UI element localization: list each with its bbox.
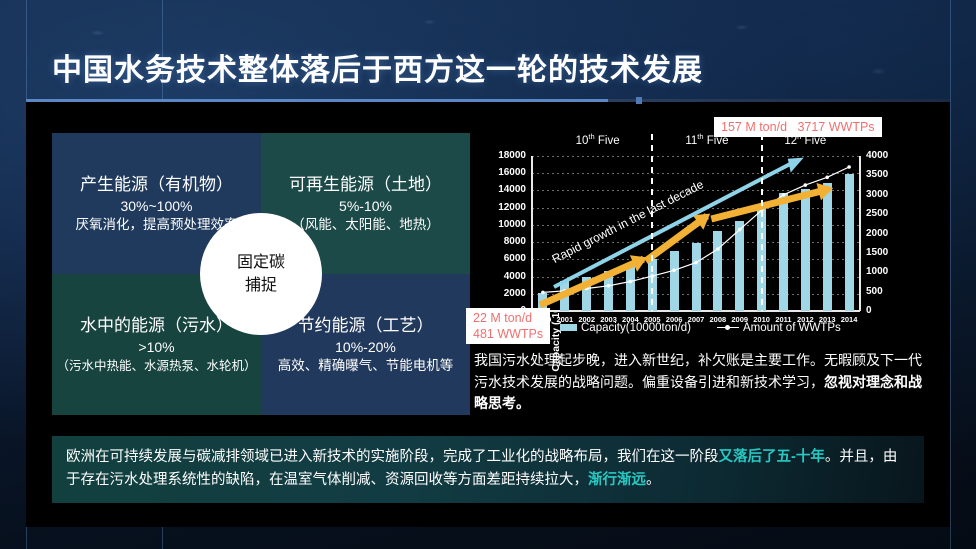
chart-plot-area: 1800016000140001200010000800060004000200… <box>532 156 860 311</box>
quadrant-heading: 节约能源（工艺） <box>298 315 434 336</box>
period-number: 10 <box>576 135 589 147</box>
chart-period-divider <box>651 134 653 311</box>
legend-entry-capacity: Capacity(10000ton/d) <box>560 322 691 334</box>
chart-y2-tick-label: 1500 <box>866 247 906 258</box>
chart-y-tick-label: 16000 <box>486 167 526 178</box>
chart-y-tick-label: 2000 <box>486 288 526 299</box>
center-circle-carbon-capture[interactable]: 固定碳 捕捉 <box>200 213 322 335</box>
banner-text-3: 。 <box>646 472 661 488</box>
quadrant-heading: 可再生能源（土地） <box>289 174 442 195</box>
page-title-text: 中国水务技术整体落后于西方这一轮的技术发展 <box>52 45 703 89</box>
chart-y-tick-label: 14000 <box>486 184 526 195</box>
chart-y2-tick-label: 1000 <box>866 266 906 277</box>
slide-canvas: 中国水务技术整体落后于西方这一轮的技术发展 产生能源（有机物） 30%~100%… <box>0 0 976 549</box>
chart-y2-tick-label: 3000 <box>866 189 906 200</box>
chart-y-tick-label: 18000 <box>486 150 526 161</box>
quadrant-percent: 5%-10% <box>339 197 392 215</box>
callout-bottom-line2: 481 WWTPs <box>473 326 543 342</box>
chart-commentary-paragraph: 我国污水处理起步晚，进入新世纪，补欠账是主要工作。无暇顾及下一代污水技术发展的战… <box>474 350 926 415</box>
circle-line-2: 捕捉 <box>245 274 277 297</box>
banner-highlight-1: 又落后了五-十年 <box>719 449 825 465</box>
wwtp-capacity-chart: Capacity ( 10000 ton/d ) Amount of WWTPs… <box>474 120 926 345</box>
quadrant-heading: 产生能源（有机物） <box>80 174 233 195</box>
chart-y-tick-label: 6000 <box>486 253 526 264</box>
quadrant-sub: 高效、精确曝气、节能电机等 <box>278 357 454 375</box>
chart-x-tick-label: 2014 <box>841 315 858 324</box>
quadrant-percent: >10% <box>138 338 174 356</box>
chart-y-axis-label-right: Amount of WWTPs <box>928 150 976 164</box>
legend-entry-wwtps: Amount of WWTPs <box>717 322 841 334</box>
chart-y-tick-label: 10000 <box>486 219 526 230</box>
quadrant-heading: 水中的能源（污水） <box>80 315 233 336</box>
conclusion-banner: 欧洲在可持续发展与碳减排领域已进入新技术的实施阶段，完成了工业化的战略布局，我们… <box>52 436 924 503</box>
legend-line-swatch-icon <box>717 324 739 332</box>
callout-2000-values: 22 M ton/d 481 WWTPs <box>466 308 550 344</box>
chart-y2-tick-label: 0 <box>866 305 906 316</box>
chart-y-tick-label: 8000 <box>486 236 526 247</box>
callout-top-line2: 3717 WWTPs <box>797 120 874 134</box>
callout-2014-values: 157 M ton/d 3717 WWTPs <box>714 117 882 137</box>
circle-line-1: 固定碳 <box>237 251 285 274</box>
callout-bottom-line1: 22 M ton/d <box>473 310 543 326</box>
chart-y2-tick-label: 3500 <box>866 169 906 180</box>
period-number: 11 <box>685 135 697 147</box>
legend-label-capacity: Capacity(10000ton/d) <box>581 322 691 334</box>
banner-text-1: 欧洲在可持续发展与碳减排领域已进入新技术的实施阶段，完成了工业化的战略布局，我们… <box>66 449 719 465</box>
quadrant-sub: （污水中热能、水源热泵、水轮机） <box>56 358 256 374</box>
chart-y-tick-label: 12000 <box>486 202 526 213</box>
title-underline <box>26 99 950 102</box>
page-title: 中国水务技术整体落后于西方这一轮的技术发展 <box>52 45 703 89</box>
background-guide-line-right <box>950 0 951 549</box>
quadrant-sub: 厌氧消化，提高预处理效率 <box>76 216 238 234</box>
chart-y-tick-label: 4000 <box>486 271 526 282</box>
banner-highlight-2: 渐行渐远 <box>588 472 646 488</box>
chart-y2-tick-label: 500 <box>866 286 906 297</box>
title-underline-marker <box>636 97 642 104</box>
legend-label-wwtps: Amount of WWTPs <box>743 322 841 334</box>
quadrant-sub: （风能、太阳能、地热） <box>291 216 440 234</box>
chart-period-divider <box>761 134 763 311</box>
quadrant-percent: 30%~100% <box>120 197 192 215</box>
legend-bar-swatch-icon <box>560 324 577 331</box>
energy-quadrant-matrix: 产生能源（有机物） 30%~100% 厌氧消化，提高预处理效率 可再生能源（土地… <box>52 133 470 415</box>
callout-top-line1: 157 M ton/d <box>721 120 787 134</box>
chart-y2-tick-label: 2000 <box>866 228 906 239</box>
chart-y2-tick-label: 2500 <box>866 208 906 219</box>
chart-legend: Capacity(10000ton/d) Amount of WWTPs <box>560 322 841 334</box>
period-word: Five <box>595 135 620 147</box>
quadrant-percent: 10%-20% <box>335 338 396 356</box>
chart-y2-tick-label: 4000 <box>866 150 906 161</box>
chart-period-label: 10th Five <box>576 132 620 147</box>
